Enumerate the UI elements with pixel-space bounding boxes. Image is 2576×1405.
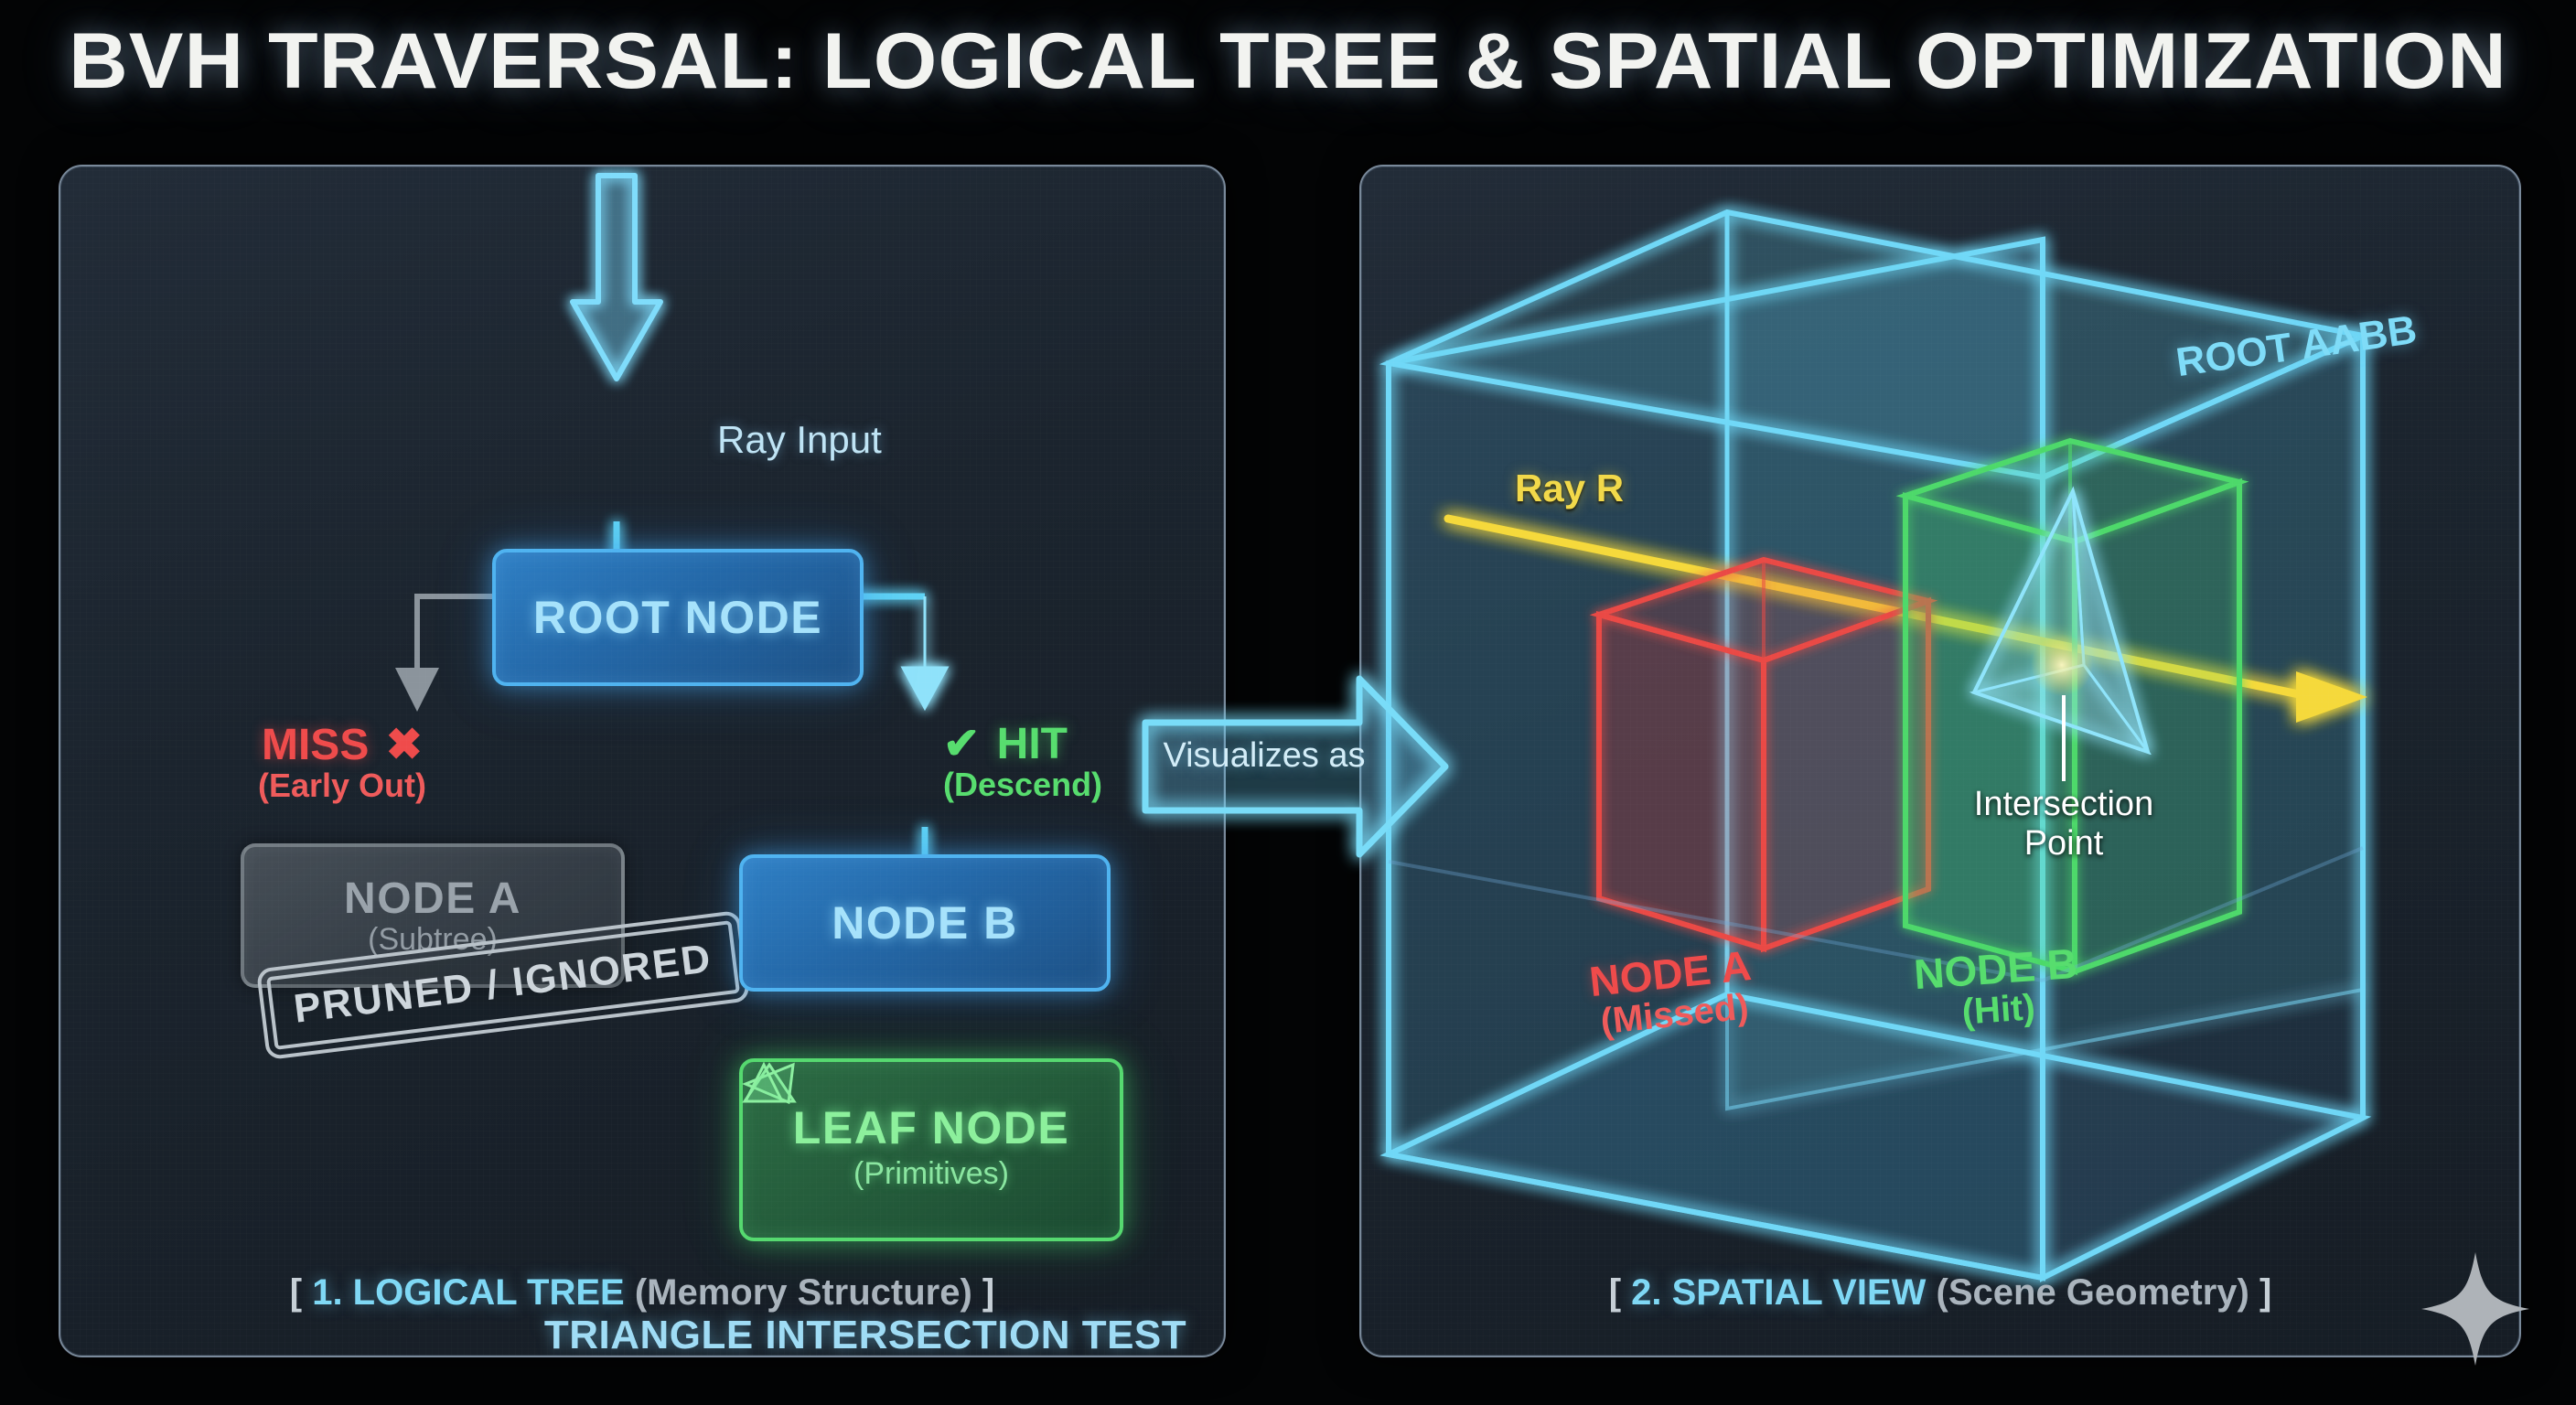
caption-bracket-open: [	[1609, 1272, 1631, 1313]
left-panel-caption: [ 1. LOGICAL TREE (Memory Structure) ]	[60, 1272, 1224, 1314]
caption-bracket-close: ]	[2249, 1272, 2271, 1313]
caption-main: 2. SPATIAL VIEW	[1631, 1272, 1936, 1313]
caption-bracket-open: [	[290, 1272, 312, 1313]
diagram-root: BVH TRAVERSAL: LOGICAL TREE & SPATIAL OP…	[0, 0, 2576, 1405]
visualizes-as-label: Visualizes as	[1154, 736, 1374, 776]
caption-bracket-close: ]	[972, 1272, 994, 1313]
right-panel-caption: [ 2. SPATIAL VIEW (Scene Geometry) ]	[1361, 1272, 2519, 1314]
caption-sub: (Memory Structure)	[635, 1272, 972, 1313]
caption-sub: (Scene Geometry)	[1937, 1272, 2249, 1313]
visualizes-arrow-layer	[0, 0, 2576, 1405]
caption-main: 1. LOGICAL TREE	[312, 1272, 635, 1313]
sparkle-icon	[2420, 1249, 2557, 1386]
